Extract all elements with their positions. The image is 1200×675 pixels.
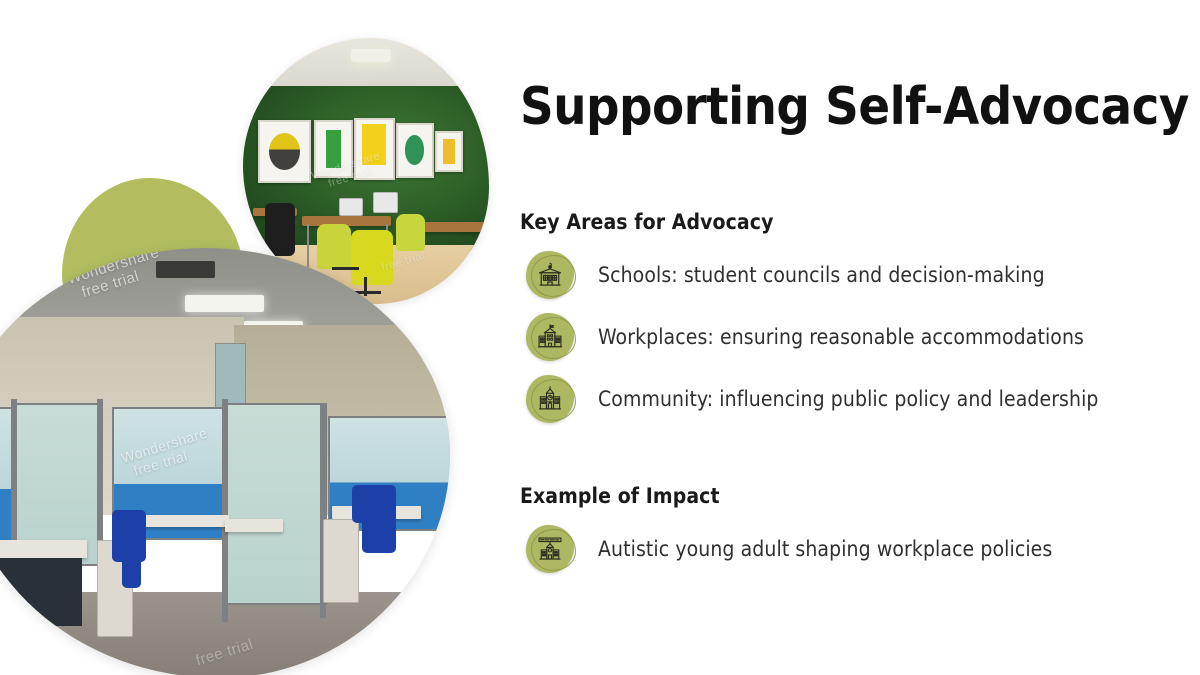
task-chair: [362, 515, 396, 554]
art-shape: [362, 124, 386, 165]
slide-canvas: Wondershare free trial free trial: [0, 0, 1200, 675]
content-column: Supporting Self-Advocacy Key Areas for A…: [518, 0, 1178, 675]
art-shape: [443, 139, 455, 164]
town-hall-clock-tower-icon: [536, 385, 564, 413]
art-frame: [258, 120, 311, 183]
art-shape: [326, 130, 341, 168]
art-frame: [435, 131, 464, 172]
badge: [526, 313, 574, 361]
bullet-list: Schools: student councils and decision-m…: [520, 244, 1160, 430]
page-title: Supporting Self-Advocacy: [520, 80, 1189, 135]
school-building-icon: [536, 261, 564, 289]
list-item-label: Community: influencing public policy and…: [598, 387, 1099, 411]
panel-post: [11, 399, 17, 554]
art-frame: [354, 118, 395, 181]
list-item[interactable]: Autistic young adult shaping workplace p…: [520, 518, 1160, 580]
section-heading: Example of Impact: [520, 484, 1160, 508]
list-item-label: Schools: student councils and decision-m…: [598, 263, 1045, 287]
cubicle-panel: [225, 403, 327, 605]
badge: [526, 525, 574, 573]
list-item[interactable]: Community: influencing public policy and…: [520, 368, 1160, 430]
badge: [526, 251, 574, 299]
file-pedestal: [323, 519, 359, 603]
visual-cluster: Wondershare free trial free trial: [0, 0, 500, 675]
section-key-areas: Key Areas for Advocacy: [520, 210, 1160, 430]
list-item[interactable]: Schools: student councils and decision-m…: [520, 244, 1160, 306]
laptop: [373, 192, 397, 213]
office-chair: [396, 214, 426, 251]
campus-building-icon: [536, 535, 564, 563]
panel-post: [222, 399, 228, 623]
list-item-label: Autistic young adult shaping workplace p…: [598, 537, 1052, 561]
list-item-label: Workplaces: ensuring reasonable accommod…: [598, 325, 1084, 349]
laptop: [339, 198, 363, 216]
panel-post: [97, 399, 103, 562]
desk-worktop: [225, 519, 284, 532]
bullet-list: Autistic young adult shaping workplace p…: [520, 518, 1160, 580]
desk-base: [0, 558, 82, 627]
desk-worktop: [0, 540, 87, 557]
section-heading: Key Areas for Advocacy: [520, 210, 1160, 234]
office-cubicles-photo: Wondershare free trial Wondershare free …: [0, 248, 450, 675]
government-building-flag-icon: [536, 323, 564, 351]
ceiling-vent: [156, 261, 215, 278]
art-shape: [405, 135, 424, 164]
art-frame: [314, 120, 352, 177]
ceiling-light: [185, 295, 263, 312]
task-chair: [122, 549, 142, 588]
section-example-of-impact: Example of Impact: [520, 484, 1160, 580]
art-frame: [396, 123, 434, 178]
cubicle-office-scene: Wondershare free trial Wondershare free …: [0, 248, 450, 675]
art-shape: [269, 133, 300, 170]
badge: [526, 375, 574, 423]
ceiling-lamp: [351, 49, 390, 62]
list-item[interactable]: Workplaces: ensuring reasonable accommod…: [520, 306, 1160, 368]
